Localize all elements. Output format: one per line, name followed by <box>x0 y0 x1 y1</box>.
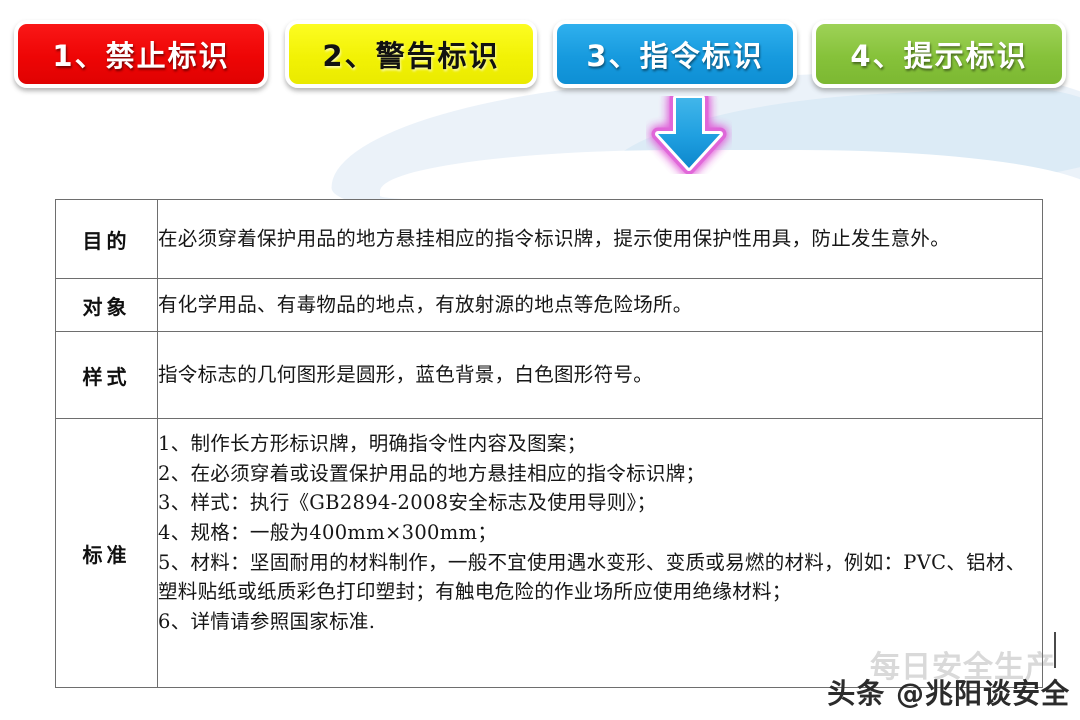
row-label-standard: 标准 <box>56 419 158 688</box>
watermark: 每日安全生产 头条 @兆阳谈安全 <box>827 672 1070 712</box>
row-label-object: 对象 <box>56 279 158 332</box>
table-row-style: 样式 指令标志的几何图形是圆形，蓝色背景，白色图形符号。 <box>56 332 1043 419</box>
row-value-style: 指令标志的几何图形是圆形，蓝色背景，白色图形符号。 <box>158 332 1043 419</box>
tab-prohibition-label: 1、禁止标识 <box>52 33 229 75</box>
down-arrow-icon <box>646 96 732 174</box>
table-row-object: 对象 有化学用品、有毒物品的地点，有放射源的地点等危险场所。 <box>56 279 1043 332</box>
tab-warning[interactable]: 2、警告标识 <box>285 20 537 88</box>
standard-item-5: 5、材料：坚固耐用的材料制作，一般不宜使用遇水变形、变质或易燃的材料，例如：PV… <box>158 548 1042 607</box>
standard-item-4: 4、规格：一般为400mm×300mm； <box>158 518 1042 548</box>
category-tab-bar: 1、禁止标识 2、警告标识 3、指令标识 4、提示标识 <box>0 0 1080 105</box>
row-label-style: 样式 <box>56 332 158 419</box>
row-label-purpose: 目的 <box>56 200 158 279</box>
tab-mandatory[interactable]: 3、指令标识 <box>553 20 797 88</box>
tab-notice-label: 4、提示标识 <box>850 33 1027 75</box>
table-row-purpose: 目的 在必须穿着保护用品的地方悬挂相应的指令标识牌，提示使用保护性用具，防止发生… <box>56 200 1043 279</box>
standard-item-6: 6、详情请参照国家标准. <box>158 607 1042 637</box>
sign-info-table: 目的 在必须穿着保护用品的地方悬挂相应的指令标识牌，提示使用保护性用具，防止发生… <box>55 199 1043 688</box>
row-value-object: 有化学用品、有毒物品的地点，有放射源的地点等危险场所。 <box>158 279 1043 332</box>
tab-notice[interactable]: 4、提示标识 <box>812 20 1066 88</box>
tab-warning-label: 2、警告标识 <box>322 33 499 75</box>
tab-mandatory-label: 3、指令标识 <box>586 33 763 75</box>
standard-item-2: 2、在必须穿着或设置保护用品的地方悬挂相应的指令标识牌； <box>158 459 1042 489</box>
row-value-purpose: 在必须穿着保护用品的地方悬挂相应的指令标识牌，提示使用保护性用具，防止发生意外。 <box>158 200 1043 279</box>
sign-info-table-wrapper: 目的 在必须穿着保护用品的地方悬挂相应的指令标识牌，提示使用保护性用具，防止发生… <box>55 199 1043 688</box>
watermark-main-text: 头条 @兆阳谈安全 <box>827 672 1070 712</box>
standard-item-1: 1、制作长方形标识牌，明确指令性内容及图案； <box>158 429 1042 459</box>
watermark-rule <box>1054 632 1070 668</box>
standard-item-3: 3、样式：执行《GB2894-2008安全标志及使用导则》； <box>158 488 1042 518</box>
tab-prohibition[interactable]: 1、禁止标识 <box>14 20 268 88</box>
